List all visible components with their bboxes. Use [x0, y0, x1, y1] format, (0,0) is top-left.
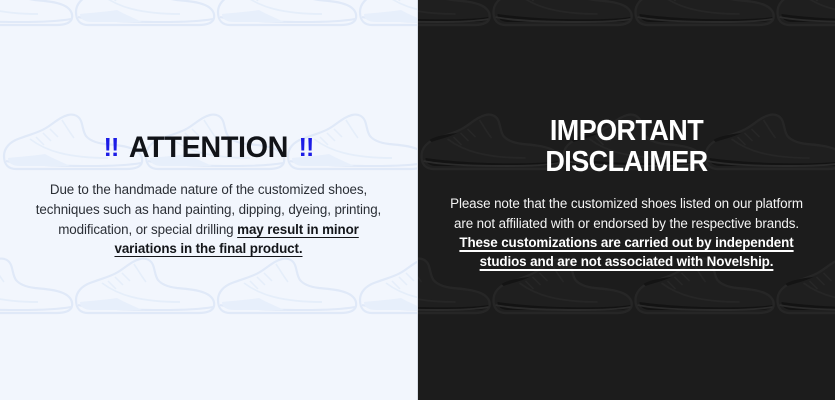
- disclaimer-body-text: Please note that the customized shoes li…: [450, 196, 803, 230]
- disclaimer-banner: !!ATTENTION!! Due to the handmade nature…: [0, 0, 835, 400]
- disclaimer-heading: IMPORTANT DISCLAIMER: [457, 116, 796, 178]
- disclaimer-heading-line2: DISCLAIMER: [457, 147, 796, 178]
- disclaimer-body-emphasis: These customizations are carried out by …: [459, 235, 793, 269]
- disclaimer-body: Please note that the customized shoes li…: [444, 194, 809, 272]
- disclaimer-panel: IMPORTANT DISCLAIMER Please note that th…: [417, 0, 835, 400]
- attention-heading: !!ATTENTION!!: [41, 133, 376, 163]
- exclamation-right: !!: [299, 132, 314, 162]
- exclamation-left: !!: [104, 132, 119, 162]
- attention-body: Due to the handmade nature of the custom…: [34, 180, 383, 258]
- attention-panel: !!ATTENTION!! Due to the handmade nature…: [0, 0, 417, 400]
- disclaimer-heading-line1: IMPORTANT: [457, 116, 796, 147]
- attention-heading-text: ATTENTION: [129, 131, 288, 164]
